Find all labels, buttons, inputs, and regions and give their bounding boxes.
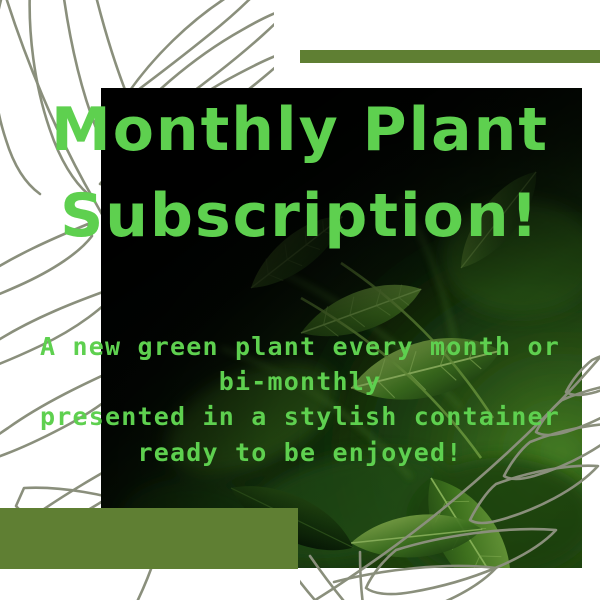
bottom-accent-block [0, 508, 298, 569]
body-line-3: presented in a stylish container [0, 404, 600, 429]
headline-line-2: Subscription! [0, 186, 600, 246]
top-accent-bar [300, 50, 600, 63]
body-line-1: A new green plant every month or [0, 334, 600, 359]
poster-canvas: Monthly Plant Subscription! A new green … [0, 0, 600, 600]
body-line-2: bi-monthly [0, 369, 600, 394]
body-line-4: ready to be enjoyed! [0, 440, 600, 465]
headline-line-1: Monthly Plant [0, 100, 600, 160]
